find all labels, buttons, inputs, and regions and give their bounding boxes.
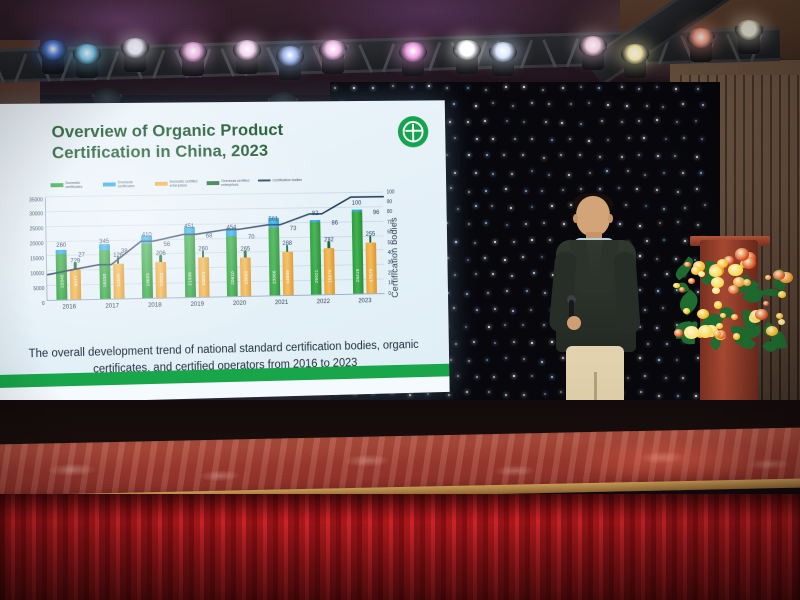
y2-axis-tick: 80: [387, 209, 392, 215]
stage-light-6: [275, 46, 305, 80]
chart-plot-area: 0500010000150002000025000300003500001020…: [45, 193, 385, 301]
flower-bloom: [712, 287, 720, 294]
x-axis-label: 2023: [358, 297, 371, 304]
y2-axis-tick: 70: [387, 219, 392, 225]
stage-light-10: [488, 42, 518, 76]
stage-light-5: [232, 40, 262, 74]
flower-bloom: [717, 259, 728, 268]
y-axis-tick: 10000: [30, 271, 44, 272]
x-axis-label: 2016: [62, 303, 76, 310]
x-axis-label: 2020: [233, 300, 246, 307]
speaker-head: [576, 196, 610, 236]
y2-axis-tick: 30: [388, 260, 393, 266]
stage-light-13: [686, 28, 716, 62]
chart-legend: Domestic certificatesOverseas certificat…: [50, 177, 390, 190]
flower-bloom: [765, 275, 772, 281]
flower-bloom: [733, 333, 741, 340]
y2-axis-tick: 90: [387, 199, 392, 205]
legend-swatch-icon: [258, 180, 271, 182]
slide-title: Overview of Organic Product Certificatio…: [51, 118, 382, 163]
flower-bloom: [755, 309, 768, 320]
flower-bloom: [697, 309, 709, 319]
presentation-slide: Overview of Organic Product Certificatio…: [0, 100, 450, 404]
flower-bloom: [778, 319, 785, 325]
legend-label: Overseas certified enterprises: [221, 179, 251, 188]
legend-swatch-icon: [51, 183, 64, 187]
y-axis-tick: 0: [42, 300, 45, 301]
legend-label: Domestic certified enterprises: [170, 179, 200, 188]
stage-light-4: [178, 42, 208, 76]
legend-item-4: Overseas certified enterprises: [207, 179, 252, 188]
x-axis-label: 2018: [148, 302, 162, 309]
y-axis-tick: 35000: [29, 197, 43, 198]
flower-bloom: [698, 325, 713, 338]
legend-swatch-icon: [155, 182, 168, 186]
stage-light-2: [72, 44, 102, 78]
flower-bloom: [674, 329, 684, 337]
y2-axis-tick: 20: [388, 270, 393, 276]
speaker-arm-right: [613, 251, 641, 334]
legend-label: Domestic certificates: [65, 181, 96, 190]
stage-light-3: [120, 38, 150, 72]
y-axis-tick: 20000: [30, 241, 44, 242]
flower-bloom: [684, 262, 690, 267]
photo-scene: Overview of Organic Product Certificatio…: [0, 0, 800, 600]
flower-bloom: [714, 301, 723, 308]
flower-arrangement: [672, 248, 792, 358]
legend-item-3: Domestic certified enterprises: [155, 179, 200, 188]
projection-screen: Overview of Organic Product Certificatio…: [0, 100, 450, 404]
stage-skirt-shading: [0, 494, 800, 600]
y-axis-tick: 30000: [29, 211, 43, 212]
y-axis-tick: 5000: [33, 285, 44, 286]
chart: Number of certificates (number) Certifie…: [0, 182, 449, 338]
stage-light-8: [398, 42, 428, 76]
stage-light-11: [578, 36, 608, 70]
speaker-ear-left: [573, 214, 578, 223]
legend-swatch-icon: [103, 183, 116, 187]
y-axis-tick: 15000: [30, 256, 44, 257]
flower-bloom: [711, 277, 724, 288]
flower-bloom: [688, 278, 695, 284]
flower-bloom: [728, 264, 742, 276]
flower-bloom: [728, 285, 738, 294]
speaker-ear-right: [608, 214, 613, 223]
organic-certification-logo-icon: [398, 116, 429, 147]
stage-skirt: [0, 494, 800, 600]
legend-label: Certification bodies: [272, 178, 302, 182]
y-axis-tick: 25000: [29, 226, 43, 227]
x-axis-label: 2019: [191, 301, 205, 308]
legend-item-1: Domestic certificates: [50, 181, 96, 190]
stage-light-1: [38, 40, 68, 74]
stage-light-14: [734, 20, 764, 54]
y2-axis-tick: 60: [387, 230, 392, 236]
flower-bloom: [679, 287, 685, 292]
flower-bloom: [720, 313, 726, 318]
flower-bloom: [778, 291, 786, 297]
legend-item-2: Overseas certificates: [103, 180, 148, 189]
legend-swatch-icon: [207, 181, 220, 185]
y2-axis-tick: 10: [388, 280, 393, 286]
flower-bloom: [735, 248, 750, 261]
y2-axis-tick: 40: [388, 250, 393, 256]
stage-light-9: [452, 40, 482, 74]
speaker-hand: [567, 316, 581, 330]
legend-label: Overseas certificates: [118, 180, 149, 189]
x-axis-label: 2021: [275, 299, 288, 306]
y2-axis-tick: 100: [387, 189, 395, 195]
line-certification-bodies: [46, 193, 386, 301]
flower-bloom: [684, 326, 699, 339]
x-axis-label: 2022: [317, 298, 330, 305]
flower-bloom: [731, 314, 738, 320]
y2-axis-tick: 50: [387, 240, 392, 246]
legend-item-5: Certification bodies: [258, 178, 302, 183]
flower-bloom: [743, 279, 751, 286]
x-axis-label: 2017: [105, 302, 119, 309]
y2-axis-tick: 0: [388, 291, 391, 297]
stage-light-7: [318, 40, 348, 74]
stage-light-12: [620, 44, 650, 78]
flower-bloom: [766, 326, 778, 336]
flower-bloom: [776, 313, 783, 319]
flower-bloom: [763, 301, 769, 306]
